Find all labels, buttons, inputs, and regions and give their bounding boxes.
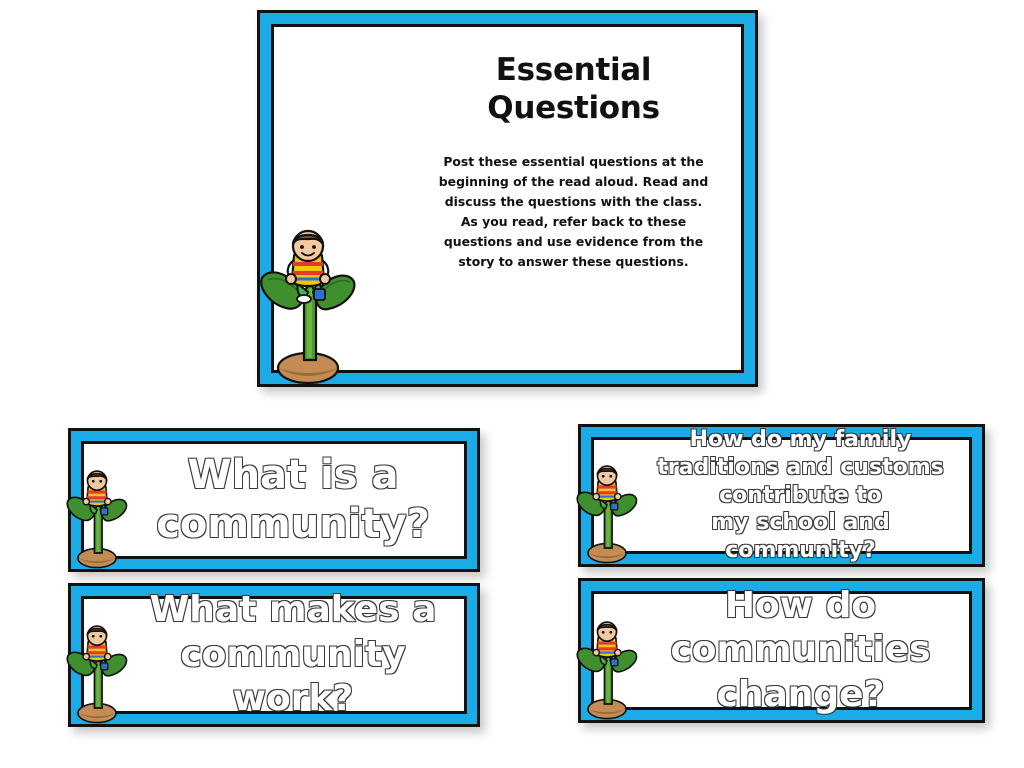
question-line: How do my family <box>642 426 959 454</box>
question-line: contribute to <box>642 482 959 510</box>
question-text: How do my family traditions and customs … <box>594 426 969 565</box>
question-line: community? <box>132 500 454 549</box>
question-line: work? <box>132 677 454 722</box>
question-line: How do <box>642 584 959 629</box>
card-blue-band: What is a community? <box>71 431 477 569</box>
card-blue-band: How do communities change? <box>581 581 982 720</box>
card-outer-border: How do communities change? <box>578 578 985 723</box>
question-line: What makes a <box>132 588 454 633</box>
card-blue-band: How do my family traditions and customs … <box>581 427 982 564</box>
card-paper: How do my family traditions and customs … <box>594 440 969 551</box>
question-line: traditions and customs <box>642 454 959 482</box>
boy-on-leaf-plant-illustration <box>256 232 360 384</box>
question-line: my school and community? <box>642 509 959 564</box>
card-inner-border: How do my family traditions and customs … <box>591 437 972 554</box>
card-paper: What makes a community work? <box>84 599 464 711</box>
question-line: community <box>132 633 454 678</box>
card-outer-border: How do my family traditions and customs … <box>578 424 985 567</box>
card-inner-border: How do communities change? <box>591 591 972 710</box>
question-line: communities <box>642 628 959 673</box>
slide-inner-border: Essential Questions Post these essential… <box>271 24 744 373</box>
question-card-what-makes-a-community-work[interactable]: What makes a community work? <box>68 583 480 727</box>
question-card-family-traditions-customs[interactable]: How do my family traditions and customs … <box>578 424 985 567</box>
essential-questions-title-slide: Essential Questions Post these essential… <box>257 10 758 387</box>
card-paper: What is a community? <box>84 444 464 556</box>
card-inner-border: What makes a community work? <box>81 596 467 714</box>
question-line: change? <box>642 673 959 718</box>
title-line-1: Essential <box>404 51 744 89</box>
question-card-how-do-communities-change[interactable]: How do communities change? <box>578 578 985 723</box>
card-inner-border: What is a community? <box>81 441 467 559</box>
question-text: How do communities change? <box>594 584 969 718</box>
title-line-2: Questions <box>404 89 744 127</box>
page-title: Essential Questions <box>404 51 744 128</box>
question-text: What makes a community work? <box>84 588 464 722</box>
slide-body-text: Post these essential questions at the be… <box>435 152 713 273</box>
slide-canvas: Essential Questions Post these essential… <box>0 0 1024 768</box>
question-line: What is a <box>132 451 454 500</box>
card-paper: How do communities change? <box>594 594 969 707</box>
card-outer-border: What makes a community work? <box>68 583 480 727</box>
slide-blue-band: Essential Questions Post these essential… <box>260 13 755 384</box>
slide-paper: Essential Questions Post these essential… <box>274 27 741 370</box>
card-outer-border: What is a community? <box>68 428 480 572</box>
question-text: What is a community? <box>84 451 464 549</box>
boy-on-leaf-plant-icon <box>256 232 360 384</box>
question-card-what-is-a-community[interactable]: What is a community? <box>68 428 480 572</box>
slide-outer-border: Essential Questions Post these essential… <box>257 10 758 387</box>
card-blue-band: What makes a community work? <box>71 586 477 724</box>
